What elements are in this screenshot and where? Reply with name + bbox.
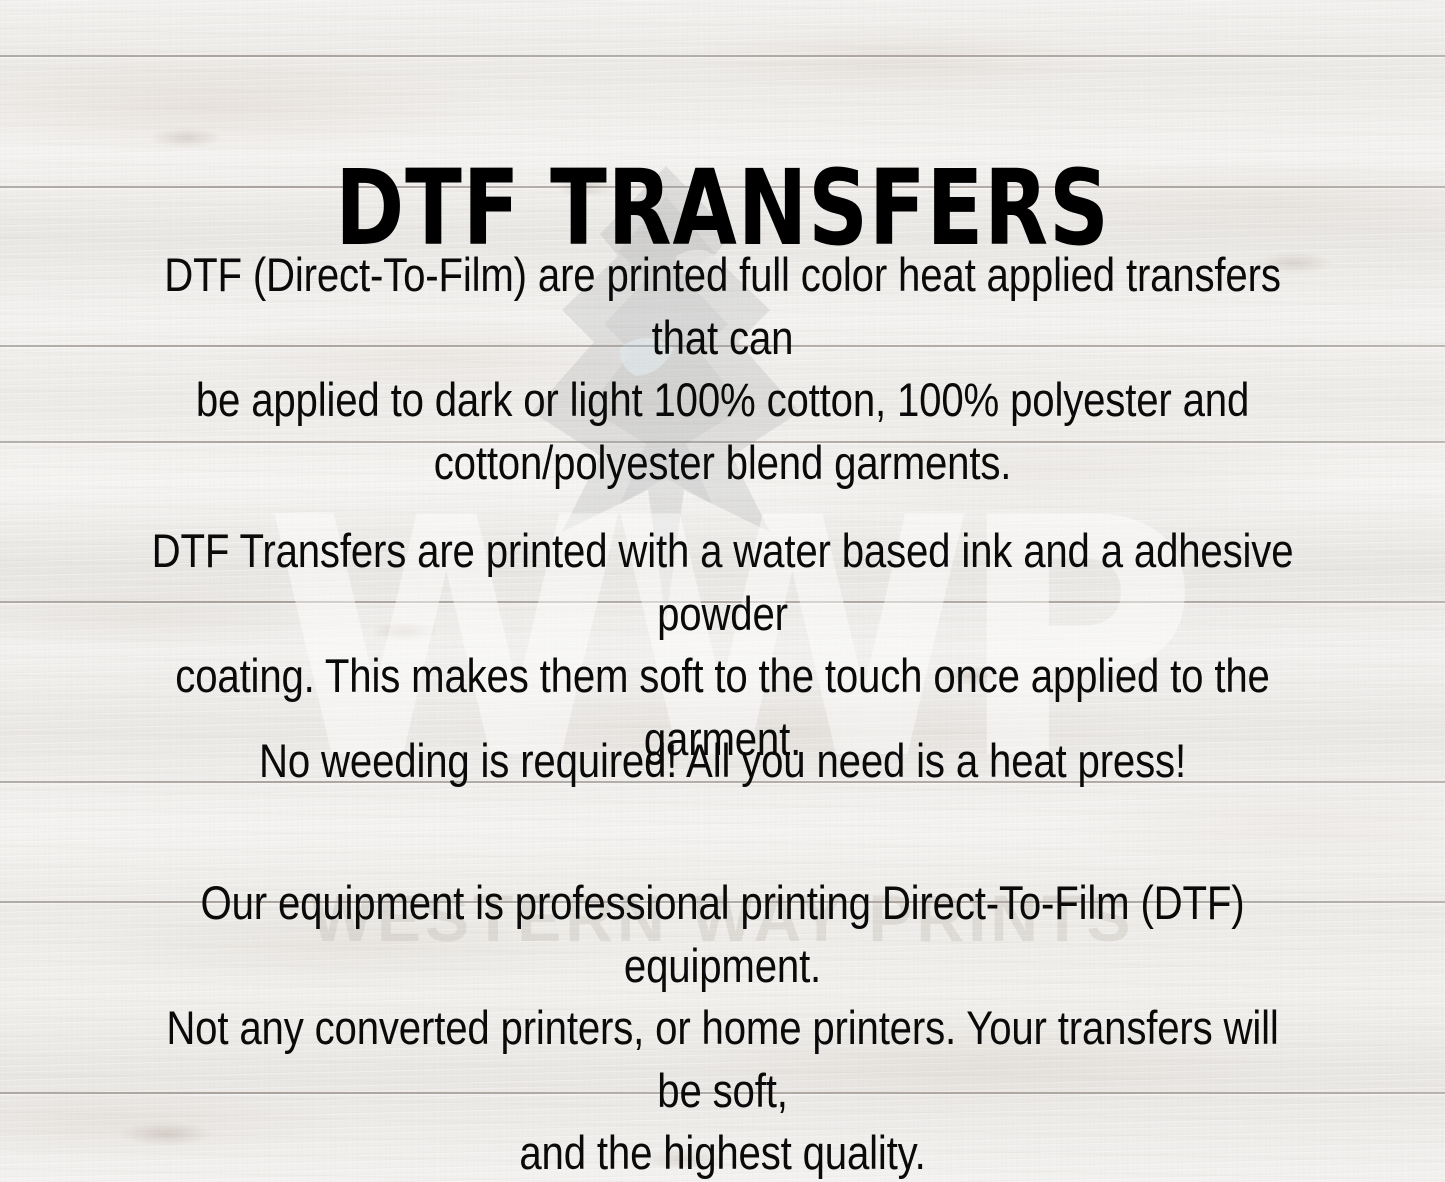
paragraph-line: cotton/polyester blend garments. bbox=[142, 432, 1302, 495]
paragraph-line: DTF Transfers are printed with a water b… bbox=[142, 520, 1302, 645]
paragraph-line: DTF (Direct-To-Film) are printed full co… bbox=[142, 244, 1302, 369]
paragraph-line: and the highest quality. bbox=[142, 1122, 1302, 1182]
paragraph-line: Not any converted printers, or home prin… bbox=[142, 997, 1302, 1122]
paragraph-line: No weeding is required! All you need is … bbox=[142, 730, 1302, 793]
info-graphic-canvas: WWP WESTERN WAY PRINTS DTF TRANSFERS DTF… bbox=[0, 0, 1445, 1182]
paragraph-line: Our equipment is professional printing D… bbox=[142, 872, 1302, 997]
paragraph-no-weeding: No weeding is required! All you need is … bbox=[142, 730, 1302, 793]
content-layer: DTF TRANSFERS DTF (Direct-To-Film) are p… bbox=[0, 0, 1445, 1182]
paragraph-equipment: Our equipment is professional printing D… bbox=[142, 872, 1302, 1182]
paragraph-intro: DTF (Direct-To-Film) are printed full co… bbox=[142, 244, 1302, 494]
paragraph-line: be applied to dark or light 100% cotton,… bbox=[142, 369, 1302, 432]
